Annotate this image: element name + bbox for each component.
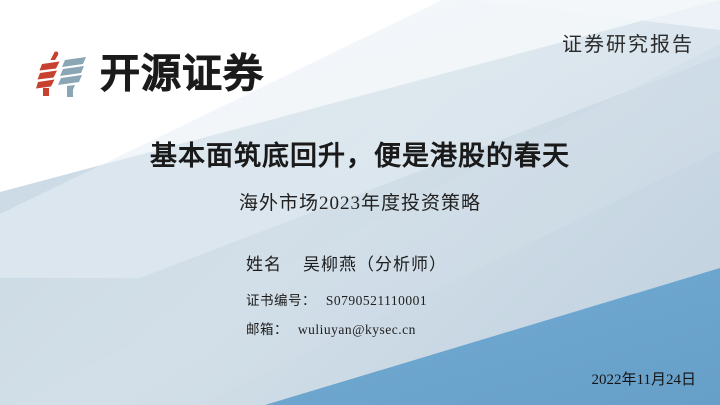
page-title: 基本面筑底回升，便是港股的春天 <box>0 134 720 173</box>
report-cover-slide: 证券研究报告 开源证券 基本面筑底回升，便是港股的春天 海外市场2023年度投资… <box>0 0 720 405</box>
publish-date: 2022年11月24日 <box>592 368 696 389</box>
brand-wordmark: 开源证券 <box>100 54 264 94</box>
certificate-number: S0790521110001 <box>326 293 427 308</box>
analyst-name-value: 吴柳燕（分析师） <box>303 255 447 274</box>
email-address[interactable]: wuliuyan@kysec.cn <box>298 322 416 337</box>
analyst-name-label: 姓名 <box>246 255 282 274</box>
certificate-line: 证书编号： S0790521110001 <box>246 289 447 309</box>
author-info: 姓名 吴柳燕（分析师） 证书编号： S0790521110001 邮箱： wul… <box>246 250 447 347</box>
page-subtitle: 海外市场2023年度投资策略 <box>0 188 720 215</box>
email-label: 邮箱： <box>246 322 288 337</box>
report-type-tag: 证券研究报告 <box>562 28 694 57</box>
analyst-name: 姓名 吴柳燕（分析师） <box>246 250 447 275</box>
certificate-label: 证书编号： <box>246 293 316 308</box>
email-line: 邮箱： wuliuyan@kysec.cn <box>246 318 447 338</box>
kaiyuan-securities-logo-icon <box>34 48 90 100</box>
brand-logo: 开源证券 <box>34 48 264 100</box>
